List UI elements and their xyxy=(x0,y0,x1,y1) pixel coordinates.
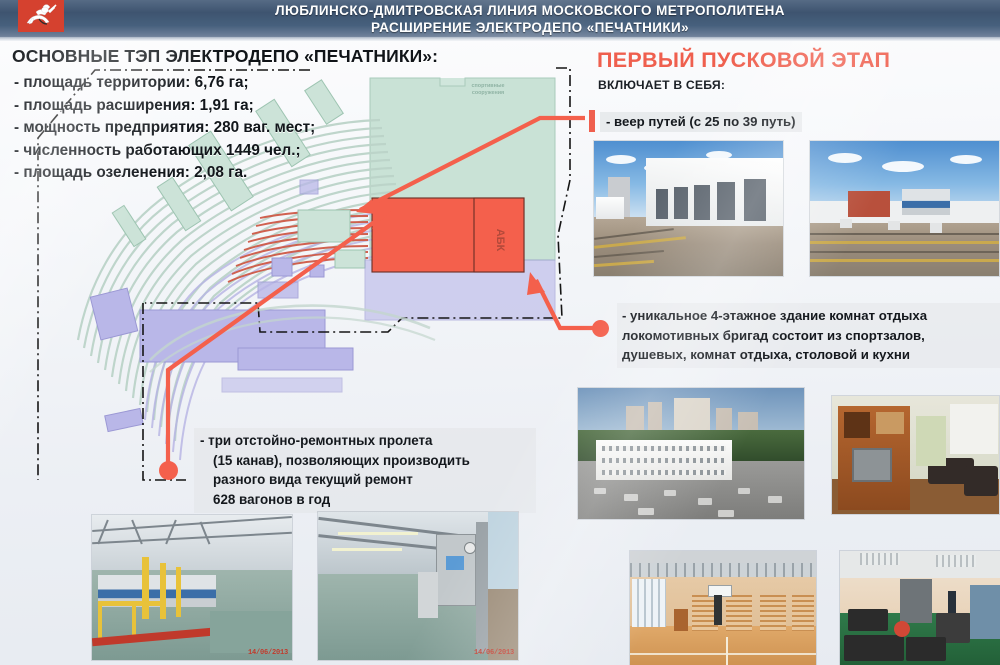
spec-item: - площадь территории: 6,76 га; xyxy=(14,72,454,95)
poster-board: ЛЮБЛИНСКО-ДМИТРОВСКАЯ ЛИНИЯ МОСКОВСКОГО … xyxy=(0,0,1000,665)
poster-header: ЛЮБЛИНСКО-ДМИТРОВСКАЯ ЛИНИЯ МОСКОВСКОГО … xyxy=(0,0,1000,41)
callout-line: (15 канав), позволяющих производить xyxy=(200,451,530,471)
callout-line: - три отстойно-ремонтных пролета xyxy=(200,431,530,451)
bullet-line: душевых, комнат отдыха, столовой и кухни xyxy=(622,345,1000,365)
photo-depot-tracks xyxy=(810,141,999,276)
callout-line: 628 вагонов в год xyxy=(200,490,530,510)
stage-heading: ПЕРВЫЙ ПУСКОВОЙ ЭТАП xyxy=(597,48,890,73)
callout-line: разного вида текущий ремонт xyxy=(200,470,530,490)
photo-lounge-room xyxy=(832,396,999,514)
photo-date-stamp: 14/06/2013 xyxy=(248,649,288,657)
title-line-1: ЛЮБЛИНСКО-ДМИТРОВСКАЯ ЛИНИЯ МОСКОВСКОГО … xyxy=(140,2,920,19)
stage-subheading: ВКЛЮЧАЕТ В СЕБЯ: xyxy=(598,78,725,92)
plan-label-sport-1: спортивные xyxy=(472,83,505,89)
callout-dot-building xyxy=(592,320,609,337)
spec-item: - численность работающих 1449 чел.; xyxy=(14,140,454,163)
left-heading: ОСНОВНЫЕ ТЭП ЭЛЕКТРОДЕПО «ПЕЧАТНИКИ»: xyxy=(12,46,438,67)
poster-title: ЛЮБЛИНСКО-ДМИТРОВСКАЯ ЛИНИЯ МОСКОВСКОГО … xyxy=(140,2,920,36)
photo-depot-bays xyxy=(594,141,783,276)
bullet-line: локомотивных бригад состоит из спортзало… xyxy=(622,326,1000,346)
photo-date-stamp: 14/06/2013 xyxy=(474,649,514,657)
photo-workshop-train: 14/06/2013 xyxy=(92,515,292,660)
photo-fitness-room xyxy=(840,551,1000,665)
plan-label-abk: АБК xyxy=(494,229,506,252)
photo-gym-hall xyxy=(630,551,816,665)
moscow-coat-of-arms-icon xyxy=(18,0,64,40)
bullet-line: - уникальное 4-этажное здание комнат отд… xyxy=(622,306,1000,326)
spec-item: - площадь расширения: 1,91 га; xyxy=(14,95,454,118)
callout-repair-spans: - три отстойно-ремонтных пролета (15 кан… xyxy=(194,428,536,513)
bullet-accent-bar xyxy=(589,110,595,132)
spec-item: - площадь озеленения: 2,08 га. xyxy=(14,162,454,185)
callout-dot-repair-spans xyxy=(159,461,178,480)
bullet-rest-building: - уникальное 4-этажное здание комнат отд… xyxy=(617,303,1000,368)
title-line-2: РАСШИРЕНИЕ ЭЛЕКТРОДЕПО «ПЕЧАТНИКИ» xyxy=(140,19,920,36)
spec-item: - мощность предприятия: 280 ваг. мест; xyxy=(14,117,454,140)
bullet-track-fan: - веер путей (с 25 по 39 путь) xyxy=(600,112,802,132)
photo-workshop-aisle: 14/06/2013 xyxy=(318,512,518,660)
photo-city-view xyxy=(578,388,804,519)
spec-list: - площадь территории: 6,76 га; - площадь… xyxy=(14,72,454,185)
plan-label-sport-2: сооружения xyxy=(472,90,504,96)
